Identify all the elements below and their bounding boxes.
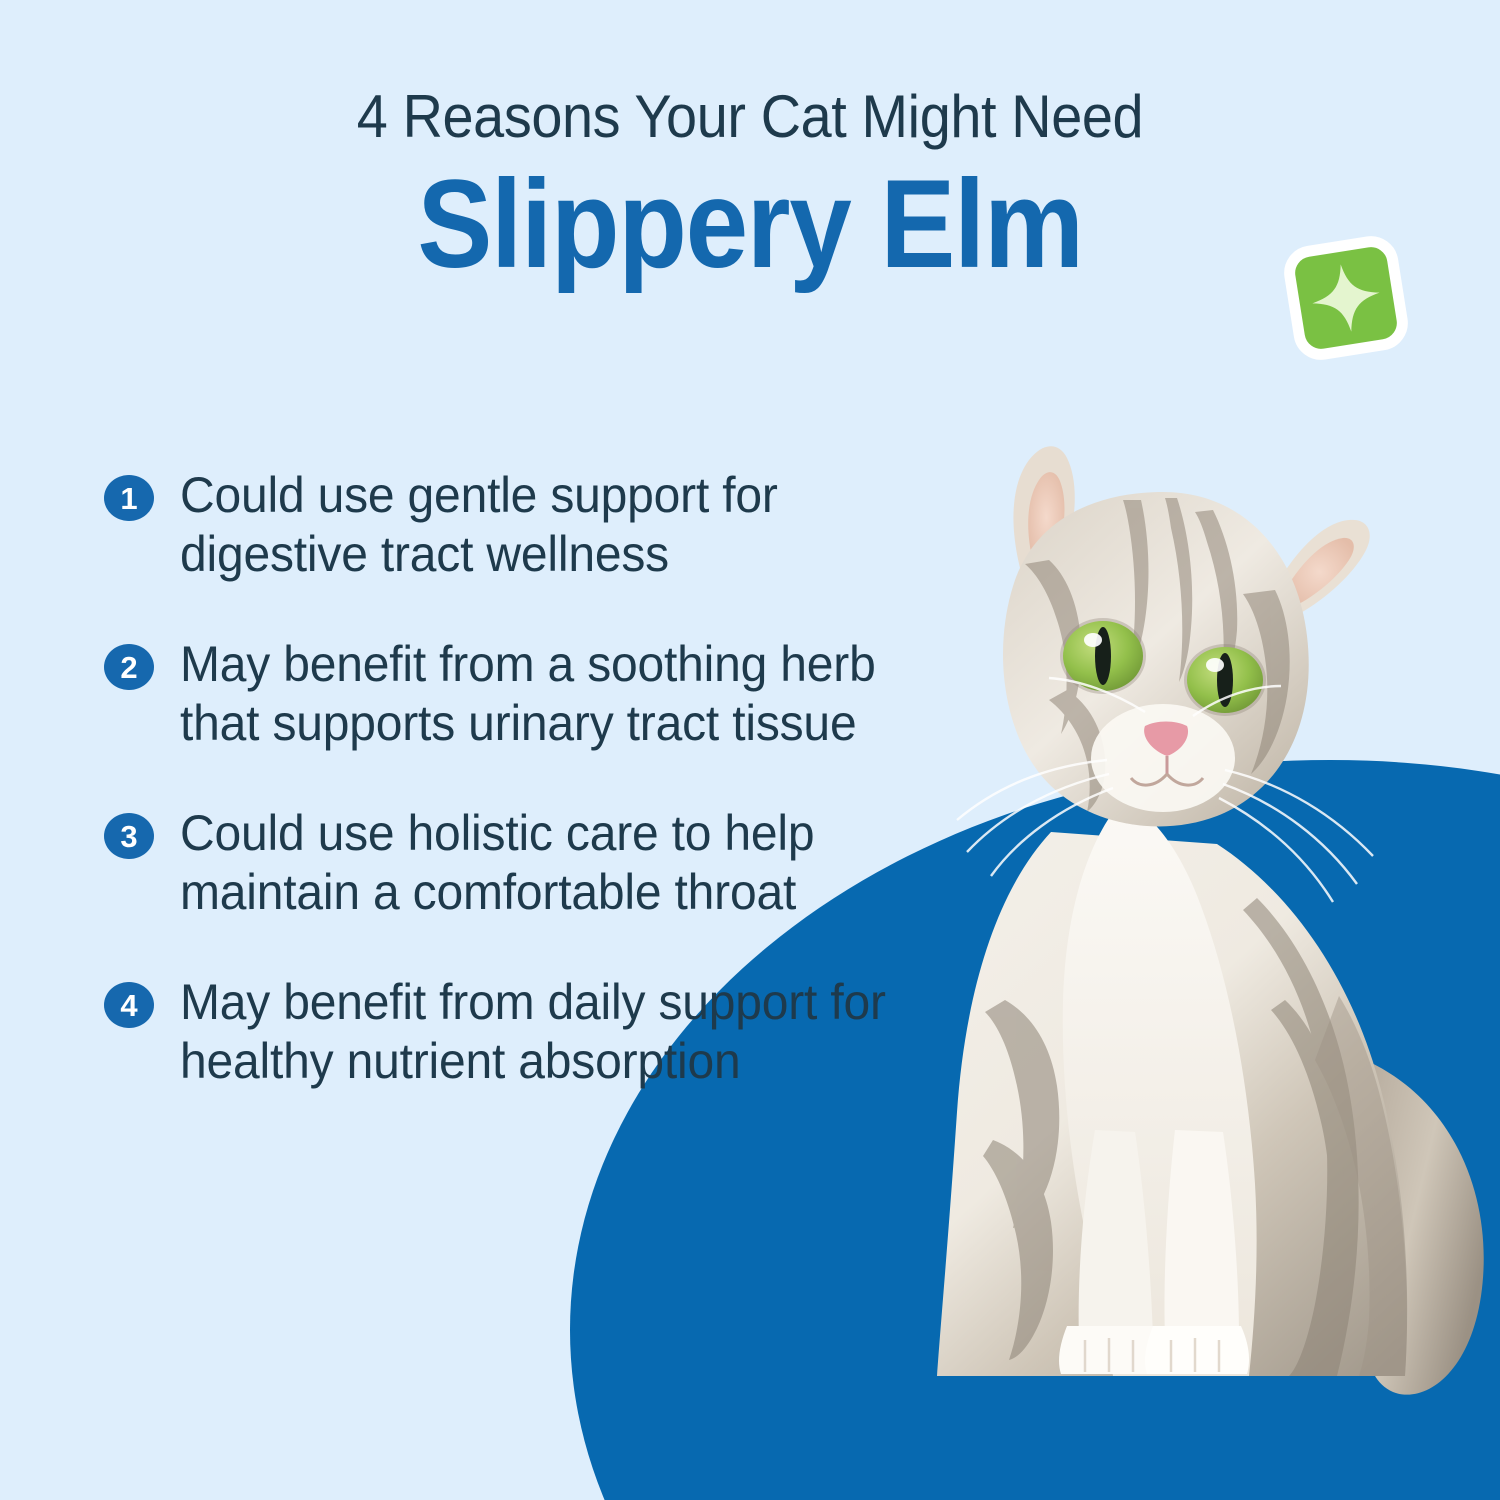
reason-number-badge: 4 [104,982,154,1028]
page-title: Slippery Elm [75,162,1425,287]
reasons-list: 1 Could use gentle support for digestive… [104,466,934,1090]
reason-text: Could use gentle support for digestive t… [180,466,904,583]
reason-text: Could use holistic care to help maintain… [180,804,904,921]
reason-number-badge: 1 [104,475,154,521]
reason-number-badge: 2 [104,644,154,690]
eyebrow-text: 4 Reasons Your Cat Might Need [53,86,1448,148]
list-item: 1 Could use gentle support for digestive… [104,466,934,583]
cat-illustration [845,440,1500,1450]
reason-text: May benefit from daily support for healt… [180,973,904,1090]
list-item: 2 May benefit from a soothing herb that … [104,635,934,752]
poster-canvas: 4 Reasons Your Cat Might Need Slippery E… [0,0,1500,1500]
sparkle-star-icon [1282,228,1410,368]
reason-text: May benefit from a soothing herb that su… [180,635,904,752]
list-item: 3 Could use holistic care to help mainta… [104,804,934,921]
list-item: 4 May benefit from daily support for hea… [104,973,934,1090]
cat-paws [1059,1326,1249,1374]
cat-muzzle [1091,704,1235,812]
header-block: 4 Reasons Your Cat Might Need Slippery E… [0,0,1500,287]
reason-number-badge: 3 [104,813,154,859]
